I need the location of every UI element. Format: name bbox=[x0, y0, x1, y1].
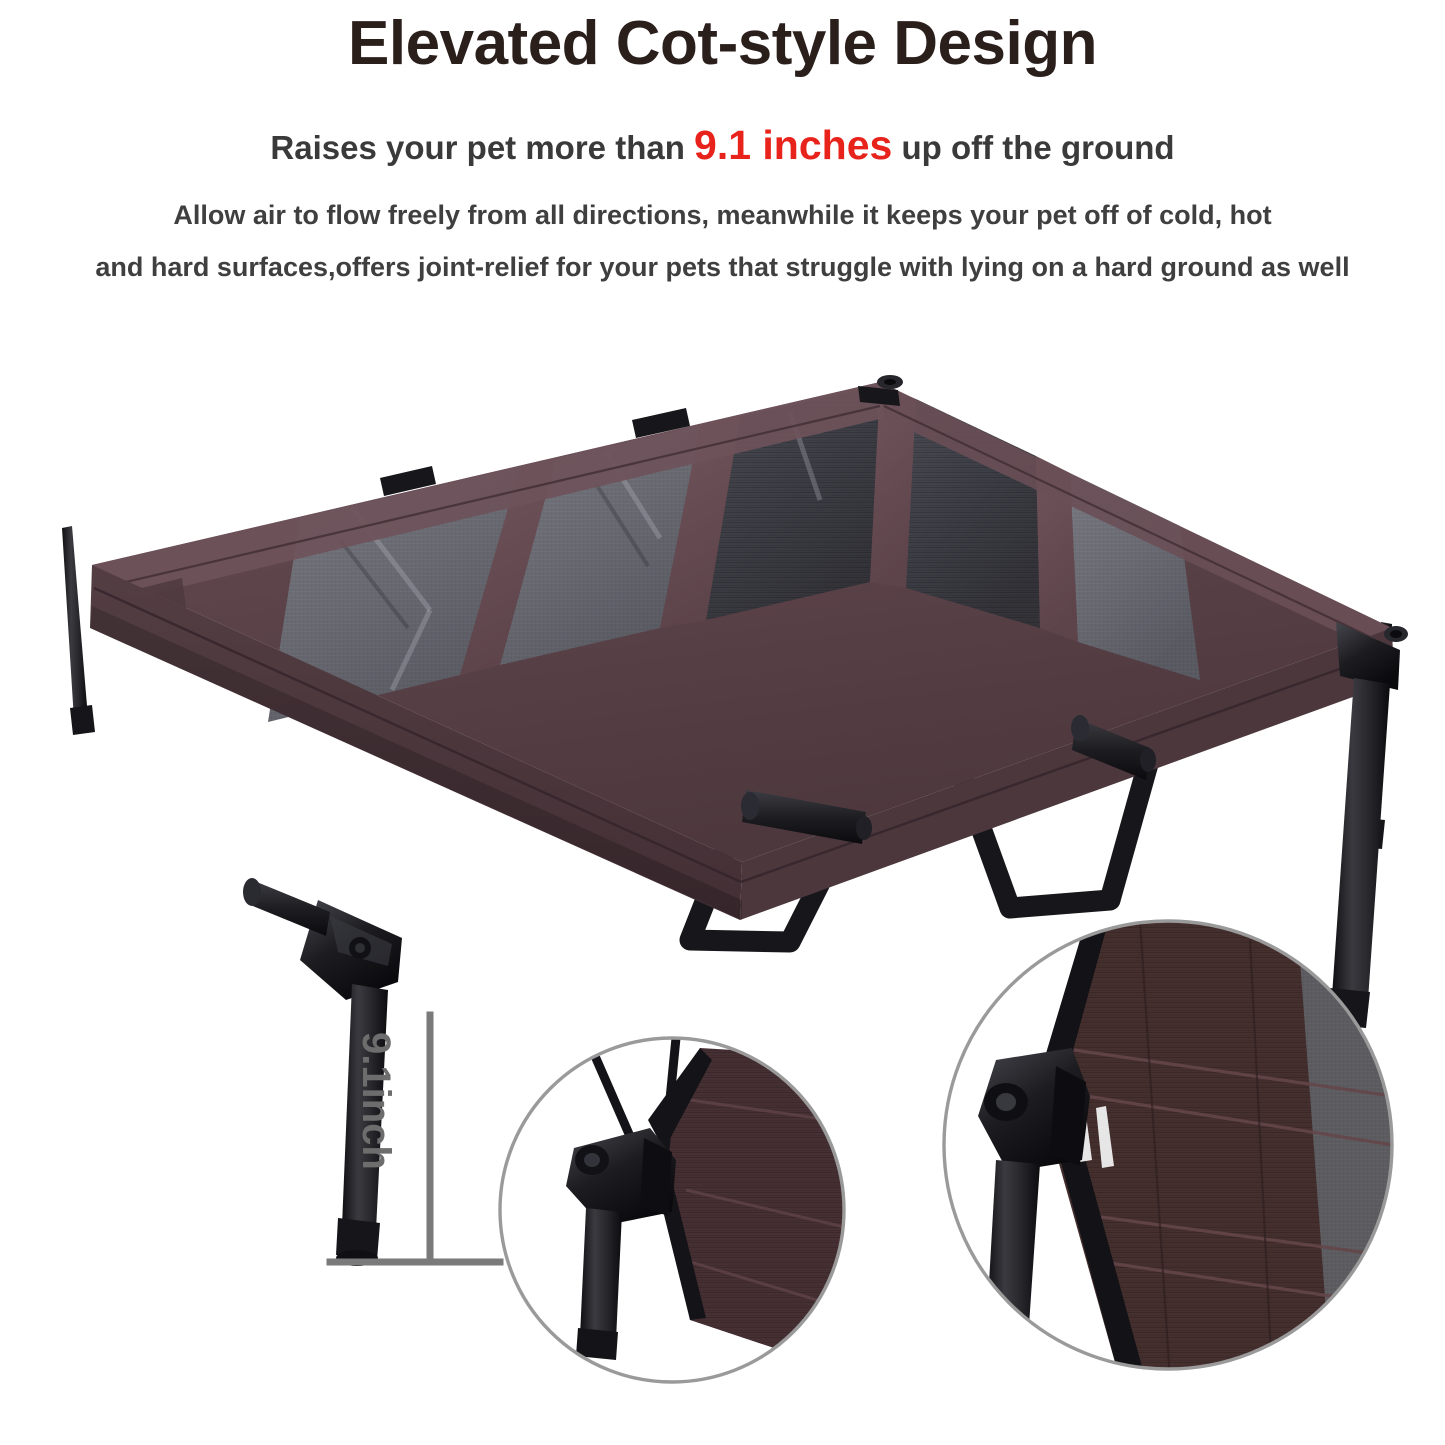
product-infographic: Elevated Cot-style Design Raises your pe… bbox=[0, 0, 1445, 1445]
corner-joint-closeup-left bbox=[496, 1032, 900, 1390]
page-title: Elevated Cot-style Design bbox=[0, 8, 1445, 79]
body-text-line-2: and hard surfaces,offers joint-relief fo… bbox=[0, 252, 1445, 283]
subheading-after: up off the ground bbox=[892, 129, 1174, 166]
product-illustration bbox=[0, 360, 1445, 1445]
mattress-top bbox=[92, 375, 1392, 862]
height-dimension-label: 9.1inch bbox=[353, 1032, 398, 1170]
height-highlight: 9.1 inches bbox=[694, 122, 892, 168]
subheading: Raises your pet more than 9.1 inches up … bbox=[0, 122, 1445, 169]
leg-rear-left bbox=[62, 526, 95, 735]
body-text-line-1: Allow air to flow freely from all direct… bbox=[0, 200, 1445, 231]
corner-joint-closeup-right bbox=[944, 900, 1445, 1390]
subheading-before: Raises your pet more than bbox=[270, 129, 694, 166]
